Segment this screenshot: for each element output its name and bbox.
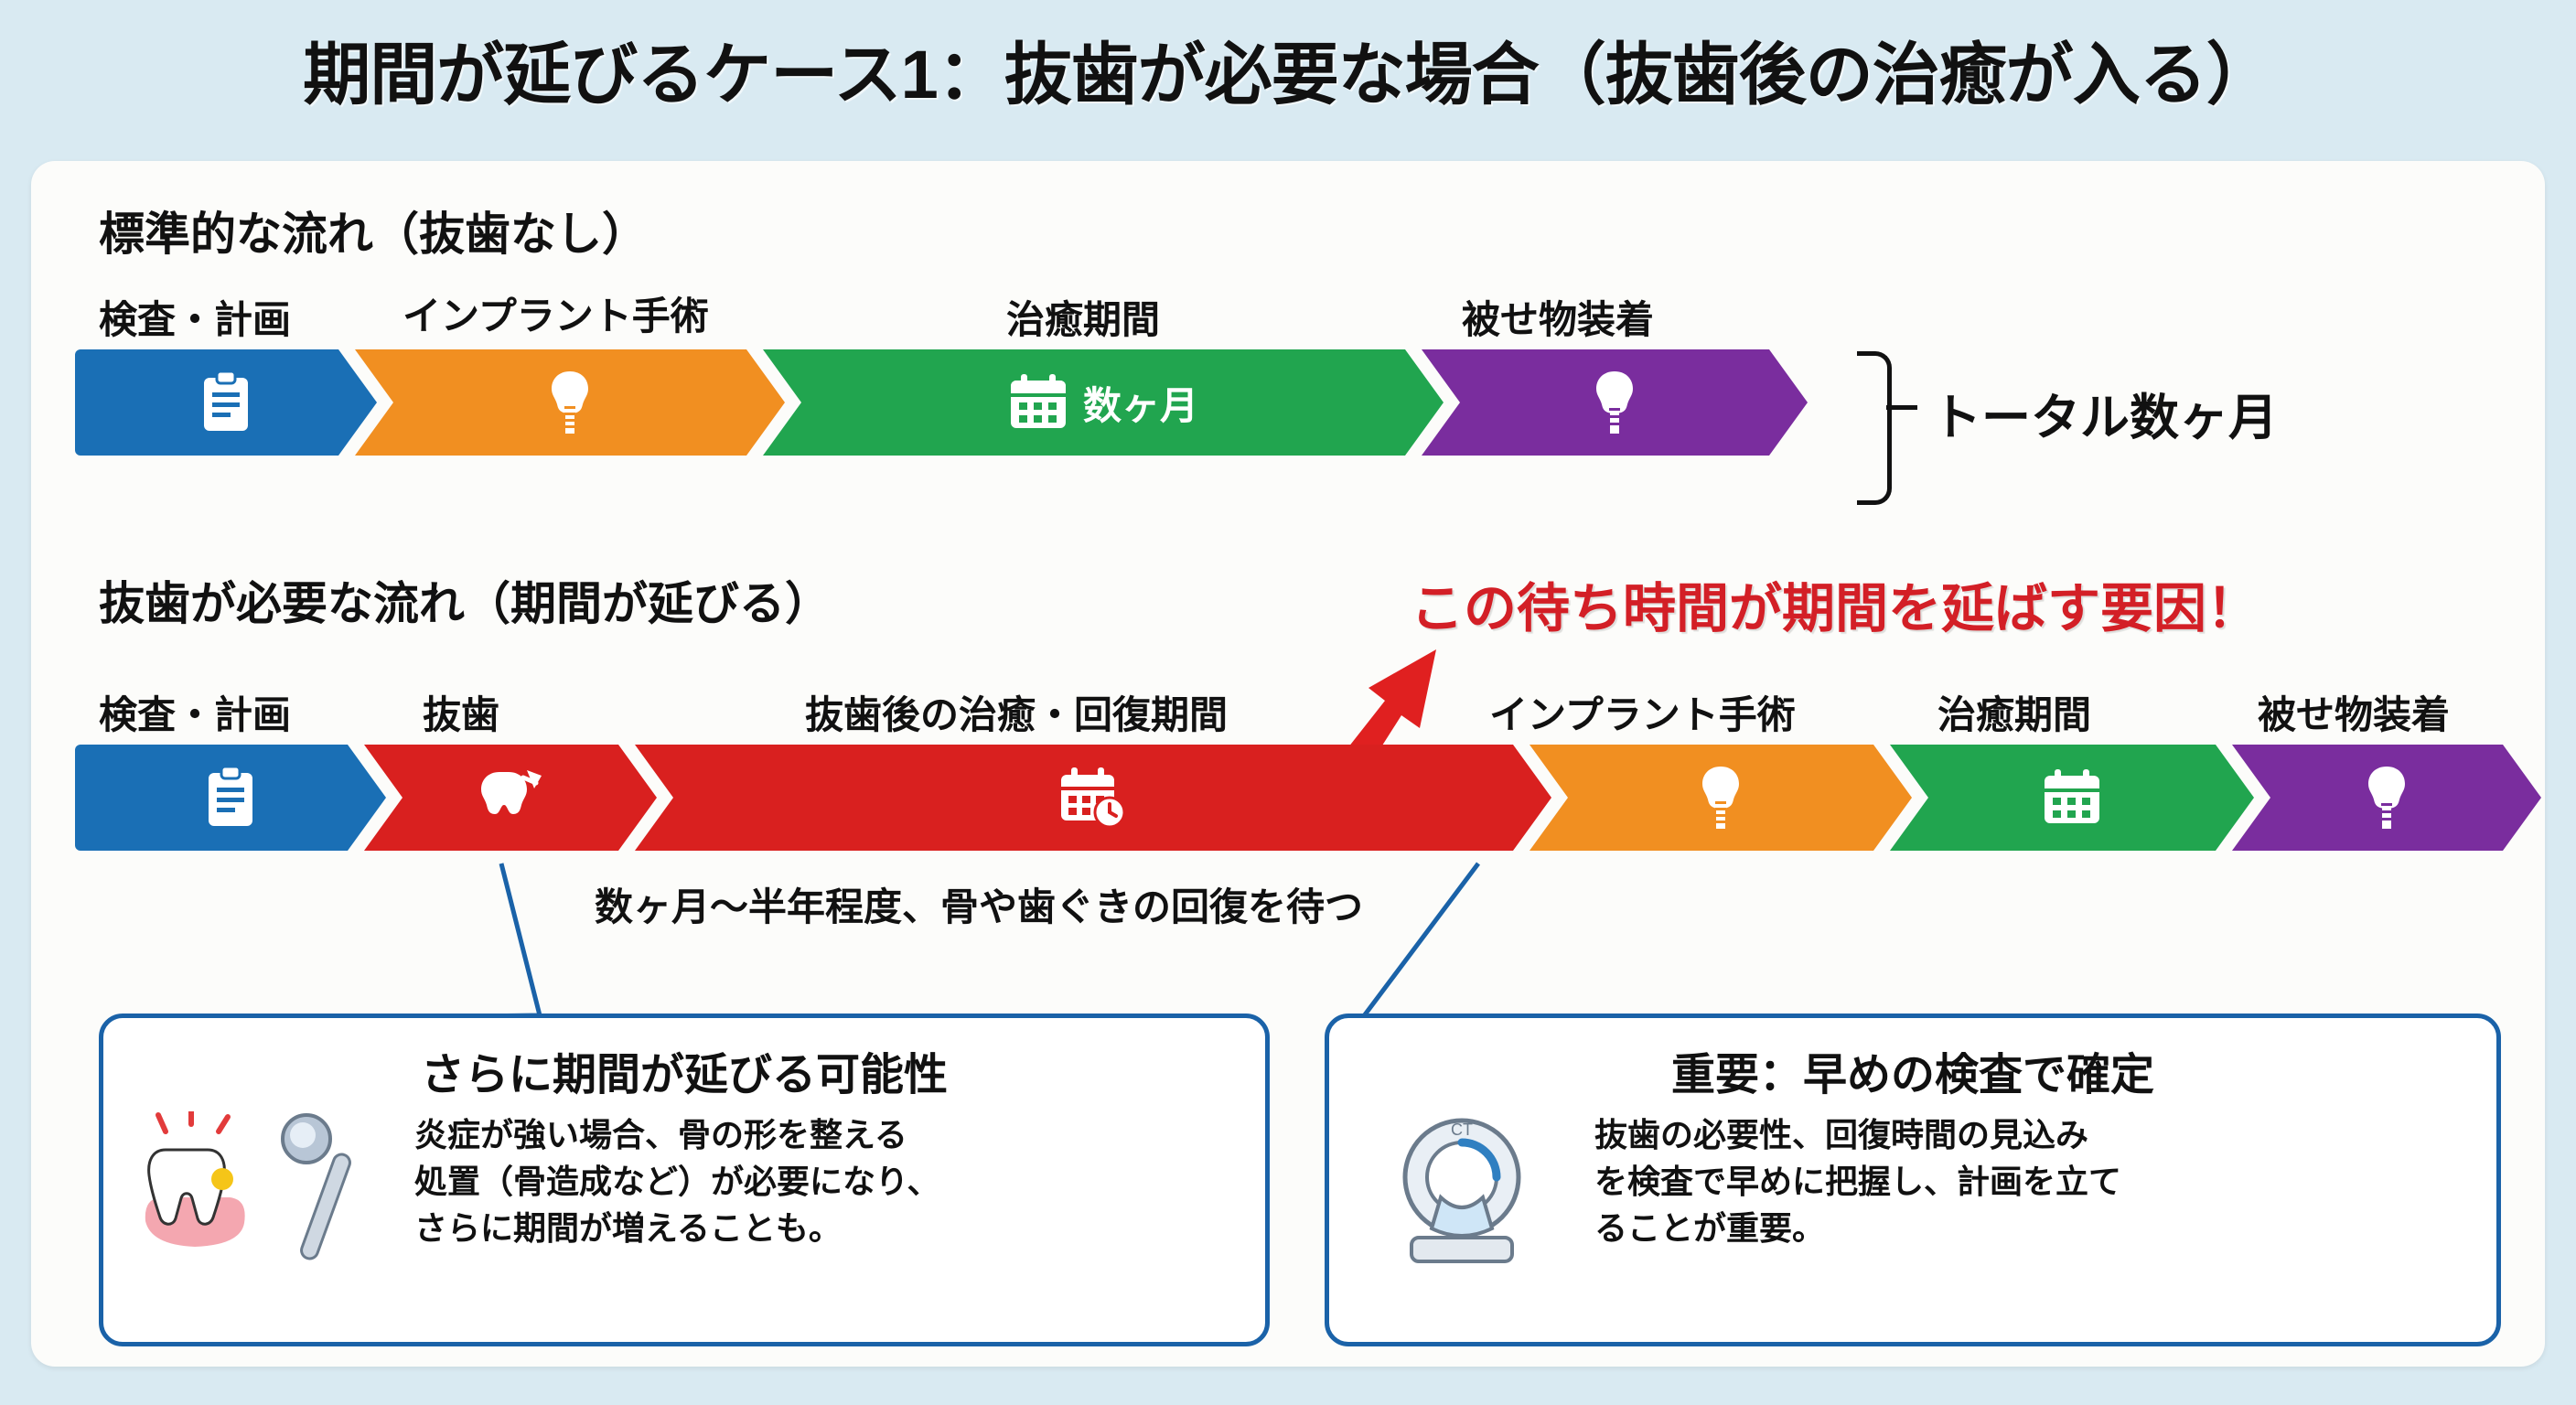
flow1-stage-label-2: 治癒期間 xyxy=(1006,289,1160,345)
crown-tooth-icon xyxy=(1591,370,1638,435)
implant-icon xyxy=(546,370,594,435)
page-title: 期間が延びるケース1：抜歯が必要な場合（抜歯後の治癒が入る） xyxy=(0,20,2576,118)
callout-box-important: 重要：早めの検査で確定 CT 抜歯の必要性、回復時間の見込み を検査で早めに把握… xyxy=(1325,1014,2501,1346)
dental-mirror-icon xyxy=(270,1110,389,1279)
recovery-caption: 数ヶ月〜半年程度、骨や歯ぐきの回復を待つ xyxy=(595,876,1363,932)
flow1-healing-duration: 数ヶ月 xyxy=(1083,375,1198,431)
svg-text:CT: CT xyxy=(1451,1121,1473,1139)
flow2-chevron-healing[interactable] xyxy=(1890,745,2254,851)
flow2-chevron-extraction[interactable] xyxy=(364,745,657,851)
flow2-chevron-surgery[interactable] xyxy=(1529,745,1912,851)
flow2-stage-label-0: 検査・計画 xyxy=(99,684,291,740)
red-arrow-icon xyxy=(1328,646,1447,761)
crown-tooth-icon xyxy=(2363,765,2410,831)
flow2-chevron-crown[interactable] xyxy=(2232,745,2541,851)
callout-tail-left xyxy=(402,860,622,1024)
total-duration-label: トータル数ヶ月 xyxy=(1932,377,2278,449)
extracted-tooth-icon xyxy=(478,767,543,829)
flow2-chevron-recovery[interactable] xyxy=(635,745,1551,851)
flow2-stage-label-2: 抜歯後の治癒・回復期間 xyxy=(805,684,1228,740)
calendar-icon xyxy=(1008,373,1068,432)
callout-body-important: 抜歯の必要性、回復時間の見込み を検査で早めに把握し、計画を立て ることが重要。 xyxy=(1594,1111,2473,1251)
calendar-icon xyxy=(2042,768,2102,827)
callout-title-possibility: さらに期間が延びる可能性 xyxy=(103,1038,1265,1102)
flow1-stage-label-0: 検査・計画 xyxy=(99,289,291,345)
flow2-stage-label-3: インプラント手術 xyxy=(1489,684,1796,740)
calendar-clock-icon xyxy=(1058,766,1128,830)
infographic-page: 期間が延びるケース1：抜歯が必要な場合（抜歯後の治癒が入る） 標準的な流れ（抜歯… xyxy=(0,0,2576,1405)
flow2-chevron-inspection[interactable] xyxy=(75,745,386,851)
total-bracket-bottom xyxy=(1857,402,1892,505)
implant-icon xyxy=(1697,765,1744,831)
flow-extraction-heading: 抜歯が必要な流れ（期間が延びる） xyxy=(99,567,831,633)
total-bracket-nub xyxy=(1886,405,1917,410)
callout-title-important: 重要：早めの検査で確定 xyxy=(1329,1038,2496,1102)
ct-scanner-icon: CT xyxy=(1384,1110,1540,1279)
flow2-stage-label-1: 抜歯 xyxy=(423,684,499,740)
flow1-chevron-surgery[interactable] xyxy=(355,349,785,456)
callout-box-possibility: さらに期間が延びる可能性 炎症が強い場合、骨の形を整える 処置（骨造成など）が必… xyxy=(99,1014,1270,1346)
warning-annotation: この待ち時間が期間を延ばす要因！ xyxy=(1411,565,2259,642)
flow2-stage-label-5: 被せ物装着 xyxy=(2258,684,2450,740)
callout-tail-right xyxy=(1308,860,1546,1024)
clipboard-icon xyxy=(204,766,257,830)
inflamed-tooth-icon xyxy=(134,1111,272,1271)
clipboard-icon xyxy=(199,370,252,434)
flow1-stage-label-1: インプラント手術 xyxy=(402,285,709,341)
flow1-chevron-healing[interactable]: 数ヶ月 xyxy=(763,349,1444,456)
flow1-stage-label-3: 被せ物装着 xyxy=(1462,289,1654,345)
flow1-chevron-inspection[interactable] xyxy=(75,349,377,456)
flow1-chevron-crown[interactable] xyxy=(1422,349,1808,456)
callout-body-possibility: 炎症が強い場合、骨の形を整える 処置（骨造成など）が必要になり、 さらに期間が増… xyxy=(414,1111,1238,1251)
flow-standard-heading: 標準的な流れ（抜歯なし） xyxy=(99,198,648,263)
flow2-stage-label-4: 治癒期間 xyxy=(1937,684,2091,740)
